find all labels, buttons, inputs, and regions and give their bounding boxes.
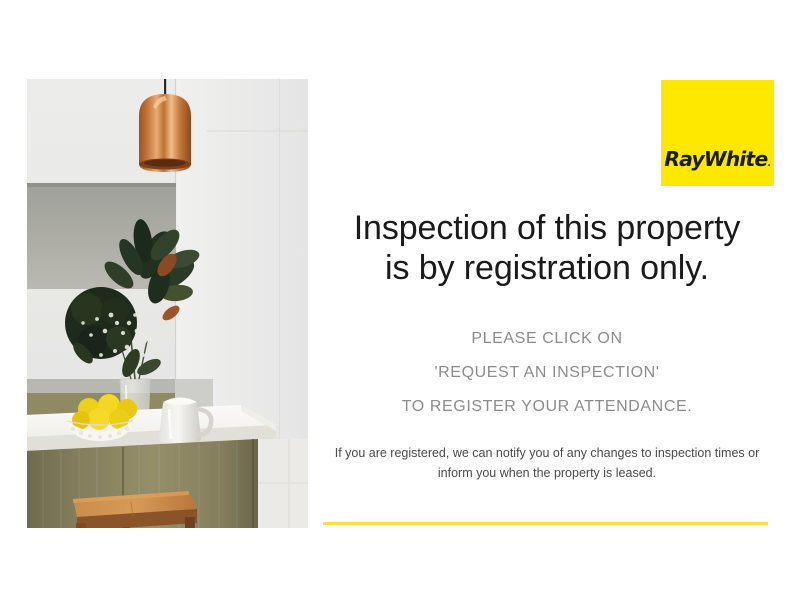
trademark-icon: .: [767, 159, 770, 169]
page-title-line-1: Inspection of this property: [318, 208, 776, 248]
page-title: Inspection of this property is by regist…: [318, 208, 776, 288]
ray-white-logo: RayWhite.: [661, 80, 774, 186]
ray-white-wordmark: RayWhite.: [661, 149, 774, 170]
instruction-line-1: PLEASE CLICK ON: [318, 322, 776, 356]
property-photo: [27, 79, 308, 528]
fine-print-block: If you are registered, we can notify you…: [318, 443, 776, 483]
ray-white-wordmark-text: RayWhite: [664, 147, 767, 171]
yellow-divider: [323, 522, 768, 525]
instructions-block: PLEASE CLICK ON 'REQUEST AN INSPECTION' …: [318, 322, 776, 424]
fine-print-line-1: If you are registered, we can notify you…: [318, 443, 776, 463]
instruction-line-3: TO REGISTER YOUR ATTENDANCE.: [318, 390, 776, 424]
kitchen-interior-illustration: [27, 79, 308, 528]
page-title-line-2: is by registration only.: [318, 248, 776, 288]
fine-print-line-2: inform you when the property is leased.: [318, 463, 776, 483]
instruction-line-2: 'REQUEST AN INSPECTION': [318, 356, 776, 390]
